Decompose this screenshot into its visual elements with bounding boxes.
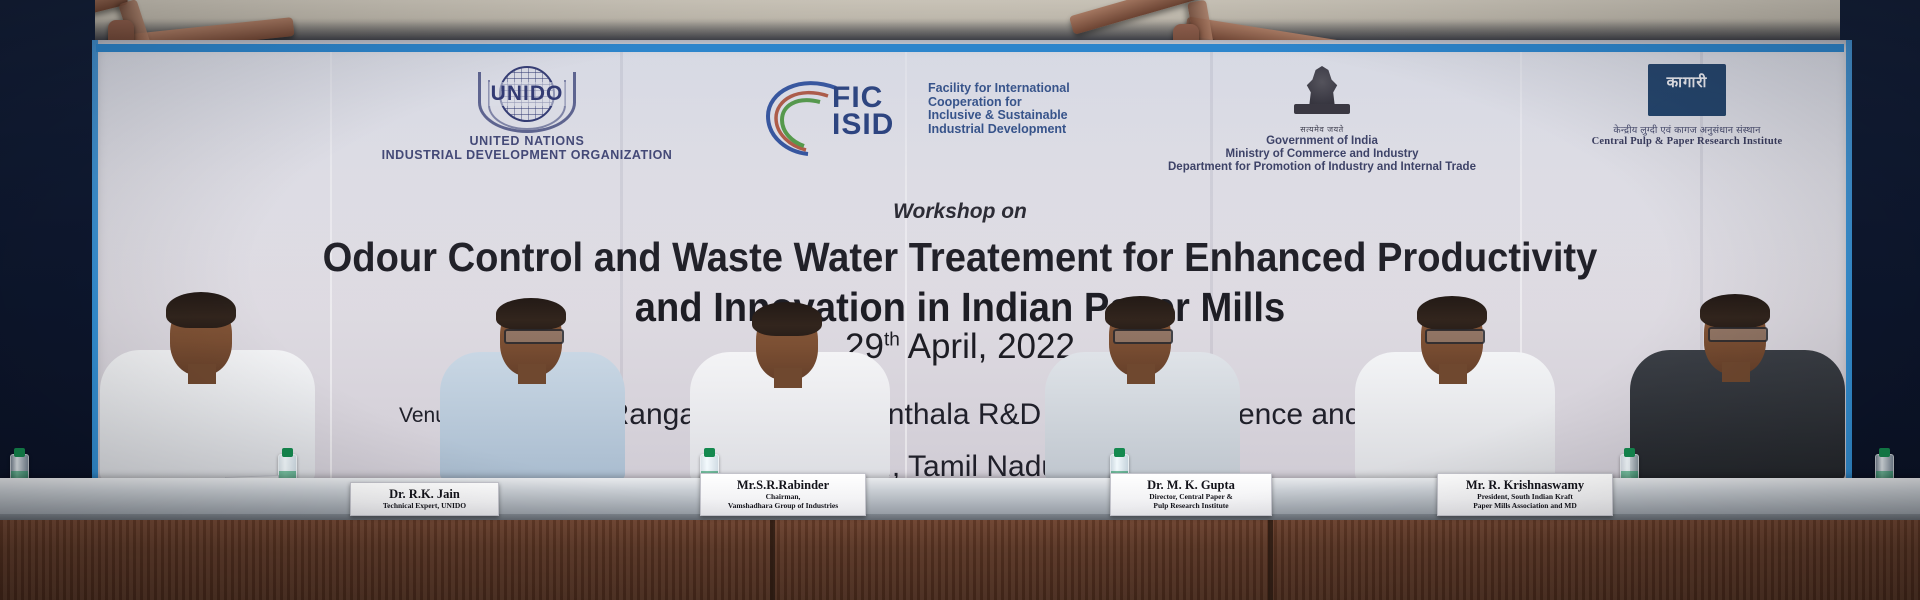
banner-blue-stripe [96,44,1844,52]
nameplate-role-line2: Vamshadhara Group of Industries [707,501,859,510]
logo-government-of-india: सत्यमेव जयते Government of India Ministr… [1112,62,1532,174]
fic-isid-wordmark: FIC ISID [832,84,894,138]
date-rest: April, 2022 [900,327,1075,366]
govt-caption-line3: Department for Promotion of Industry and… [1112,161,1532,174]
photo-scene: UNIDO UNITED NATIONS INDUSTRIAL DEVELOPM… [0,0,1920,600]
banner-logo-row: UNIDO UNITED NATIONS INDUSTRIAL DEVELOPM… [92,58,1852,178]
eyeglasses-icon [1425,329,1485,344]
cppri-wordmark: कागारी [1648,72,1726,92]
nameplate-role-line1: Technical Expert, UNIDO [357,501,492,510]
unido-caption-line2: INDUSTRIAL DEVELOPMENT ORGANIZATION [362,148,692,162]
nameplate: Dr. R.K. Jain Technical Expert, UNIDO [350,482,499,516]
banner-title: Odour Control and Waste Water Treatement… [67,232,1853,332]
dais-table-top [0,478,1920,518]
logo-unido: UNIDO UNITED NATIONS INDUSTRIAL DEVELOPM… [362,64,692,162]
table-panel-seam [770,520,775,600]
nameplate-role-line2: Pulp Research Institute [1117,501,1265,510]
un-globe-wreath-icon: UNIDO [362,64,692,130]
nameplate: Mr.S.R.Rabinder Chairman, Vamshadhara Gr… [700,473,866,516]
nameplate-role-line2: Paper Mills Association and MD [1444,501,1606,510]
nameplate-name: Dr. M. K. Gupta [1117,478,1265,492]
ashoka-emblem-icon [1112,62,1532,124]
unido-wordmark: UNIDO [489,82,566,106]
nameplate-name: Mr.S.R.Rabinder [707,478,859,492]
unido-caption-line1: UNITED NATIONS [362,134,692,148]
banner-title-line1: Odour Control and Waste Water Treatement… [67,232,1853,282]
logo-cppri: कागारी केन्द्रीय लुग्दी एवं कागज अनुसंधा… [1522,64,1852,147]
govt-caption-line2: Ministry of Commerce and Industry [1112,148,1532,161]
nameplate-name: Dr. R.K. Jain [357,487,492,501]
cppri-caption-hindi: केन्द्रीय लुग्दी एवं कागज अनुसंधान संस्थ… [1522,123,1852,136]
nameplate-name: Mr. R. Krishnaswamy [1444,478,1606,492]
eyeglasses-icon [504,329,564,344]
govt-caption-line1: Government of India [1112,135,1532,148]
nameplate-role-line1: Chairman, [707,492,859,501]
dais-table-front [0,520,1920,600]
cppri-logo-icon: कागारी [1648,64,1726,116]
fic-isid-tagline: Facility for International Cooperation f… [928,82,1070,136]
nameplate-role-line1: Director, Central Paper & [1117,492,1265,501]
eyeglasses-icon [1708,327,1768,342]
nameplate: Dr. M. K. Gupta Director, Central Paper … [1110,473,1272,516]
table-panel-seam [1268,520,1273,600]
banner-title-line2: and Innovation in Indian Paper Mills [67,282,1853,332]
emblem-motto: सत्यमेव जयते [1112,124,1532,135]
date-ordinal: th [884,329,900,350]
cppri-caption-english: Central Pulp & Paper Research Institute [1522,136,1852,147]
nameplate-role-line1: President, South Indian Kraft [1444,492,1606,501]
nameplate: Mr. R. Krishnaswamy President, South Ind… [1437,473,1613,516]
eyeglasses-icon [1113,329,1173,344]
banner-eyebrow: Workshop on [0,200,1920,224]
